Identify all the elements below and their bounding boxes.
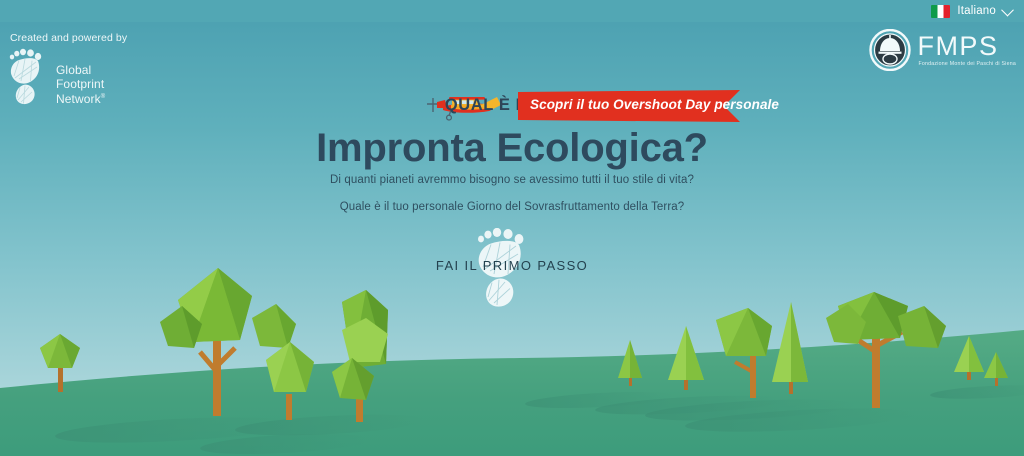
overshoot-banner-label: Scopri il tuo Overshoot Day personale xyxy=(530,97,779,112)
hero-kicker: QUAL È LA TUA xyxy=(0,96,1024,115)
hero-subtitle-2: Quale è il tuo personale Giorno del Sovr… xyxy=(0,201,1024,213)
italy-flag-icon xyxy=(931,5,950,18)
landing-page: Italiano Created and powered by xyxy=(0,0,1024,456)
gfn-name-line1: Global xyxy=(56,64,105,78)
footprint-leaf-icon xyxy=(8,48,50,106)
fmps-seal-icon xyxy=(869,29,911,71)
first-step-label: FAI IL PRIMO PASSO xyxy=(431,258,593,273)
first-step-button[interactable]: FAI IL PRIMO PASSO xyxy=(431,228,593,308)
language-selector[interactable]: Italiano xyxy=(931,5,1012,18)
fmps-full-name: Fondazione Monte dei Paschi di Siena xyxy=(918,62,1016,67)
gfn-logo[interactable]: Created and powered by xyxy=(8,32,127,107)
gfn-name-line2: Footprint xyxy=(56,78,105,92)
chevron-down-icon xyxy=(1001,3,1014,16)
fmps-acronym: FMPS xyxy=(917,33,1016,60)
gfn-wordmark: Global Footprint Network® xyxy=(56,64,105,107)
gfn-name-line3: Network® xyxy=(56,91,105,107)
page-title: Impronta Ecologica? xyxy=(0,126,1024,171)
gfn-created-by-text: Created and powered by xyxy=(10,32,127,44)
hero-subtitle-1: Di quanti pianeti avremmo bisogno se ave… xyxy=(0,174,1024,186)
fmps-logo[interactable]: FMPS Fondazione Monte dei Paschi di Sien… xyxy=(869,29,1016,71)
language-label: Italiano xyxy=(957,5,996,17)
top-bar: Italiano xyxy=(0,0,1024,22)
